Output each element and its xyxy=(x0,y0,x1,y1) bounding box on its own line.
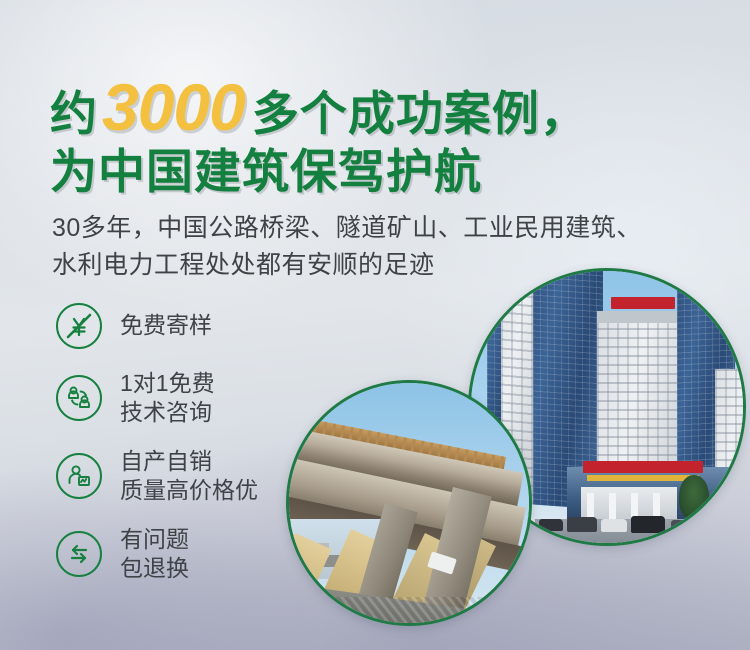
car-suv xyxy=(631,516,665,533)
tree xyxy=(679,475,709,519)
feature-item-consult[interactable]: 1对1免费 技术咨询 xyxy=(56,366,258,430)
car-dark-3 xyxy=(671,520,693,531)
feature-line-1: 免费寄样 xyxy=(120,312,212,338)
promo-banner: 约 3000 多个成功案例， 为中国建筑保驾护航 30多年，中国公路桥梁、隧道矿… xyxy=(0,0,750,650)
subhead-line-2: 水利电力工程处处都有安顺的足迹 xyxy=(52,247,732,284)
feature-label: 自产自销 质量高价格优 xyxy=(120,447,258,506)
podium-gold-sign xyxy=(587,475,699,481)
headline-line-1: 约 3000 多个成功案例， xyxy=(50,74,710,140)
headline-line-2: 为中国建筑保驾护航 xyxy=(50,144,710,199)
feature-line-1: 自产自销 xyxy=(120,447,258,476)
feature-label: 1对1免费 技术咨询 xyxy=(120,369,215,428)
entrance-column-2 xyxy=(609,493,616,519)
car-white-2 xyxy=(601,519,627,532)
return-exchange-icon xyxy=(56,531,102,577)
headline-prefix: 约 xyxy=(50,90,98,137)
headline-number: 3000 xyxy=(102,74,245,140)
bridge-photo-scene xyxy=(289,383,529,623)
entrance-column-1 xyxy=(587,493,594,519)
feature-line-2: 技术咨询 xyxy=(120,398,215,427)
one-to-one-consult-icon xyxy=(56,375,102,421)
car-dark-1 xyxy=(539,519,563,531)
headline-block: 约 3000 多个成功案例， 为中国建筑保驾护航 xyxy=(50,74,710,199)
feature-item-return-exchange[interactable]: 有问题 包退换 xyxy=(56,522,258,586)
entrance-canopy xyxy=(581,487,677,519)
subhead-block: 30多年，中国公路桥梁、隧道矿山、工业民用建筑、 水利电力工程处处都有安顺的足迹 xyxy=(52,210,732,283)
podium-red-sign xyxy=(583,461,703,473)
rubble-texture xyxy=(286,597,532,626)
self-production-sales-icon xyxy=(56,453,102,499)
feature-line-1: 有问题 xyxy=(120,525,189,554)
feature-item-self-production[interactable]: 自产自销 质量高价格优 xyxy=(56,444,258,508)
bridge-photo xyxy=(286,380,532,626)
subhead-line-1: 30多年，中国公路桥梁、隧道矿山、工业民用建筑、 xyxy=(52,210,732,247)
feature-label: 免费寄样 xyxy=(120,311,212,340)
feature-label: 有问题 包退换 xyxy=(120,525,189,584)
headline-suffix: 多个成功案例， xyxy=(252,90,588,137)
feature-list: 免费寄样 1对1免费 xyxy=(56,300,258,600)
feature-line-1: 1对1免费 xyxy=(120,369,215,398)
feature-line-2: 包退换 xyxy=(120,554,189,583)
feature-line-2: 质量高价格优 xyxy=(120,476,258,505)
tower-center-cornice xyxy=(597,311,689,323)
rooftop-red-sign xyxy=(611,297,675,309)
car-dark-2 xyxy=(567,517,597,532)
feature-item-free-sample[interactable]: 免费寄样 xyxy=(56,300,258,352)
no-fee-yuan-icon xyxy=(56,303,102,349)
